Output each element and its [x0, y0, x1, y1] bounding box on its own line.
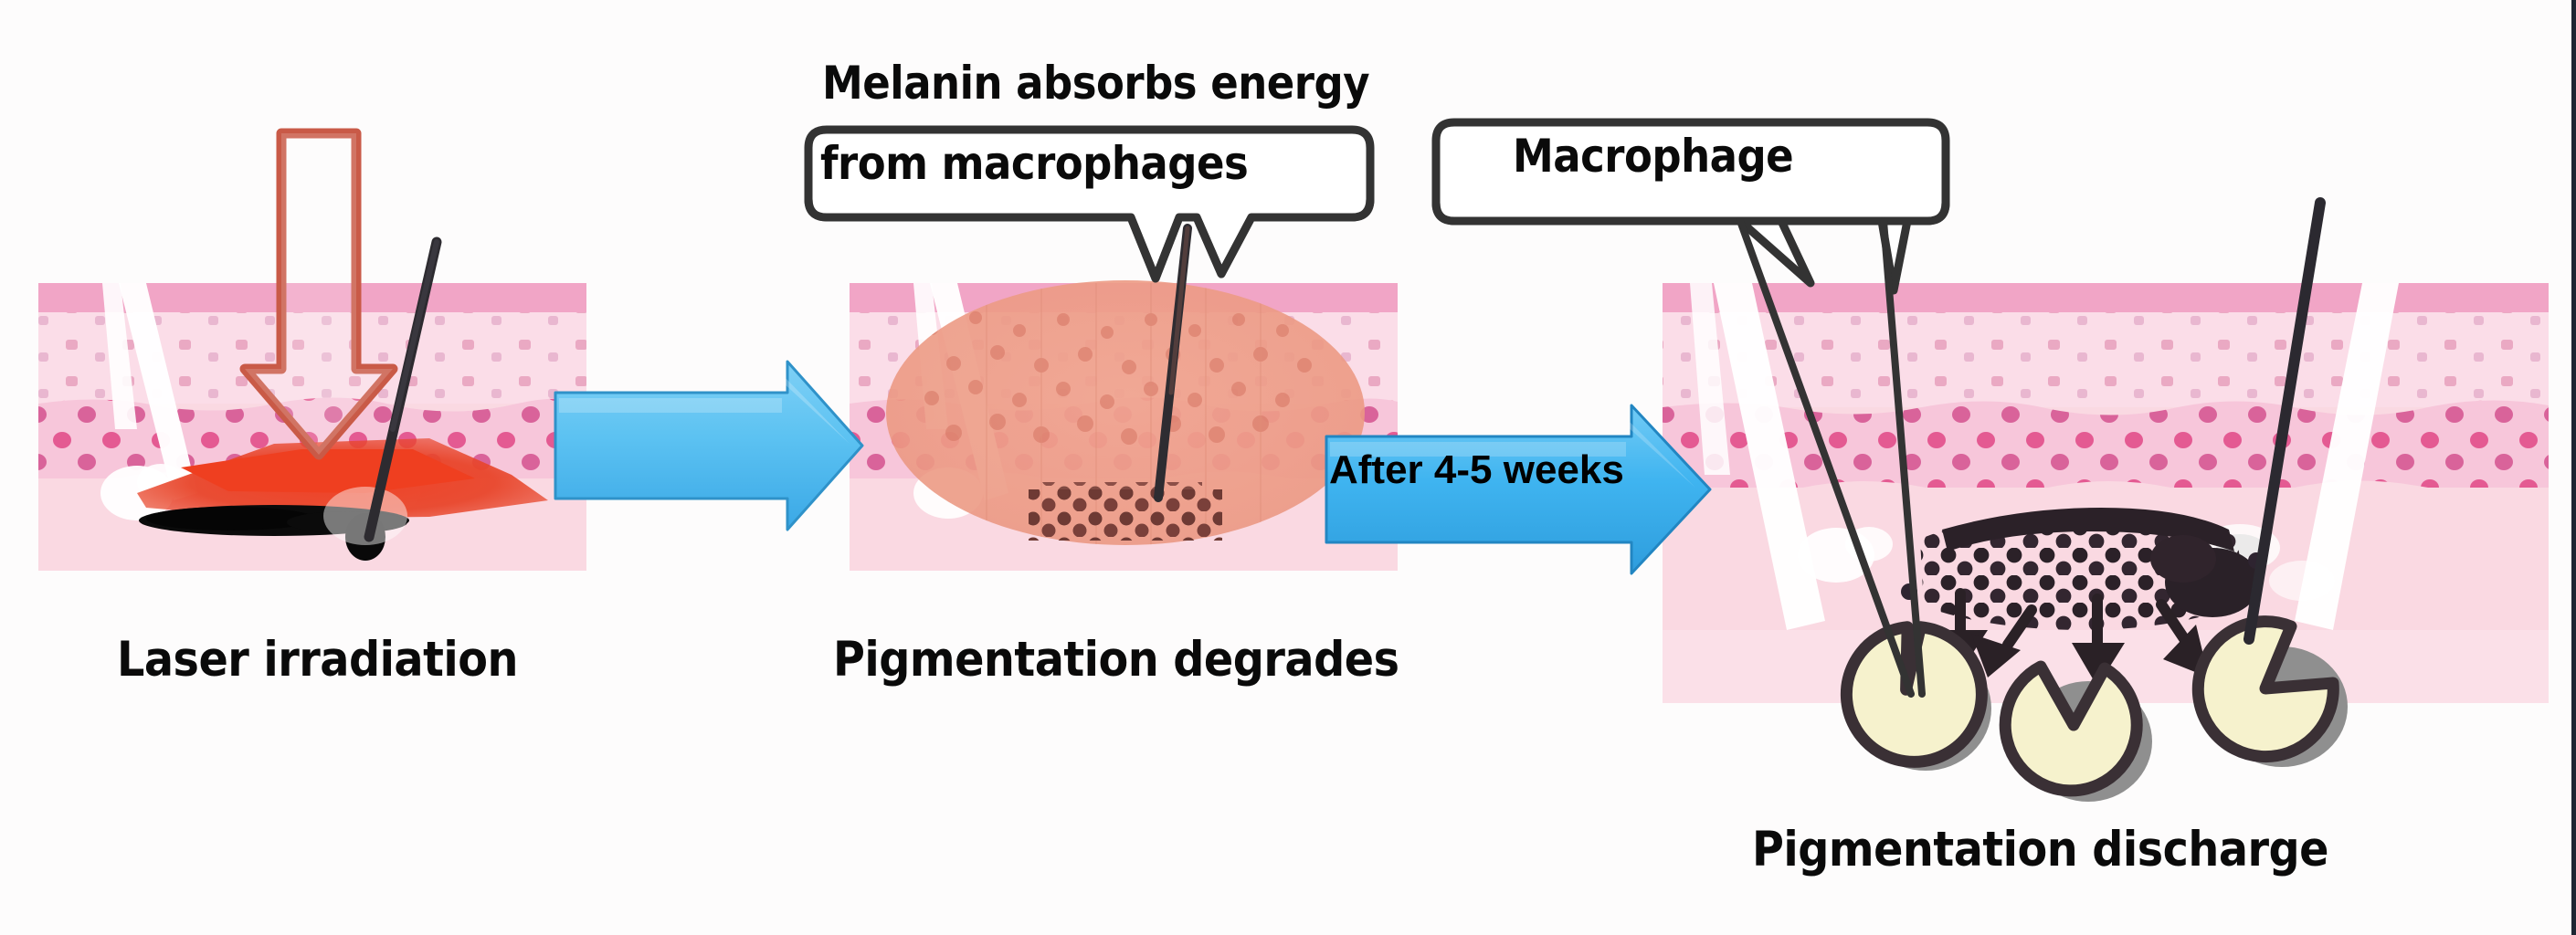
stage-label-pigmentation-discharge: Pigmentation discharge	[1752, 822, 2328, 877]
transition-arrow-1	[555, 362, 862, 530]
diagram-canvas: Melanin absorbs energy from macrophages …	[0, 0, 2576, 935]
fragmented-pigment-cluster	[1029, 482, 1222, 541]
callout-melanin-line1: Melanin absorbs energy	[822, 57, 1369, 110]
stage-label-pigmentation-degrades: Pigmentation degrades	[833, 632, 1399, 688]
diagram-illustration	[0, 0, 2576, 935]
canvas-right-edge-border	[2571, 0, 2576, 935]
stage-label-laser-irradiation: Laser irradiation	[117, 632, 518, 688]
skin-panel-pigmentation-discharge	[1663, 283, 2549, 703]
callout-melanin-line2: from macrophages	[820, 137, 1248, 190]
macrophage-2	[2005, 667, 2152, 802]
transition-arrow-2-label: After 4-5 weeks	[1329, 447, 1624, 493]
callout-macrophage-line1: Macrophage	[1513, 130, 1793, 183]
